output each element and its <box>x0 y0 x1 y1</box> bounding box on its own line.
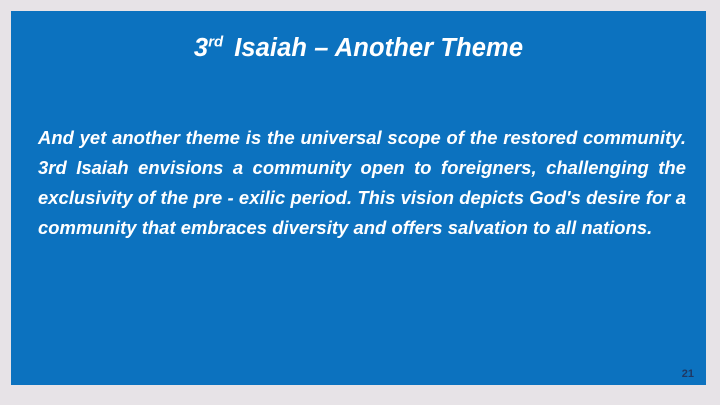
slide-body-block: And yet another theme is the universal s… <box>38 123 686 243</box>
slide: 3rdIsaiah – Another Theme And yet anothe… <box>0 0 720 405</box>
page-title: 3rdIsaiah – Another Theme <box>194 33 523 63</box>
title-ordinal-number: 3 <box>194 34 208 62</box>
title-main-text: Isaiah – Another Theme <box>234 34 523 62</box>
slide-content-panel: 3rdIsaiah – Another Theme And yet anothe… <box>11 11 706 385</box>
slide-title-block: 3rdIsaiah – Another Theme <box>11 33 706 63</box>
body-paragraph: And yet another theme is the universal s… <box>38 123 686 243</box>
title-ordinal-suffix: rd <box>208 34 223 51</box>
page-number: 21 <box>682 368 694 381</box>
